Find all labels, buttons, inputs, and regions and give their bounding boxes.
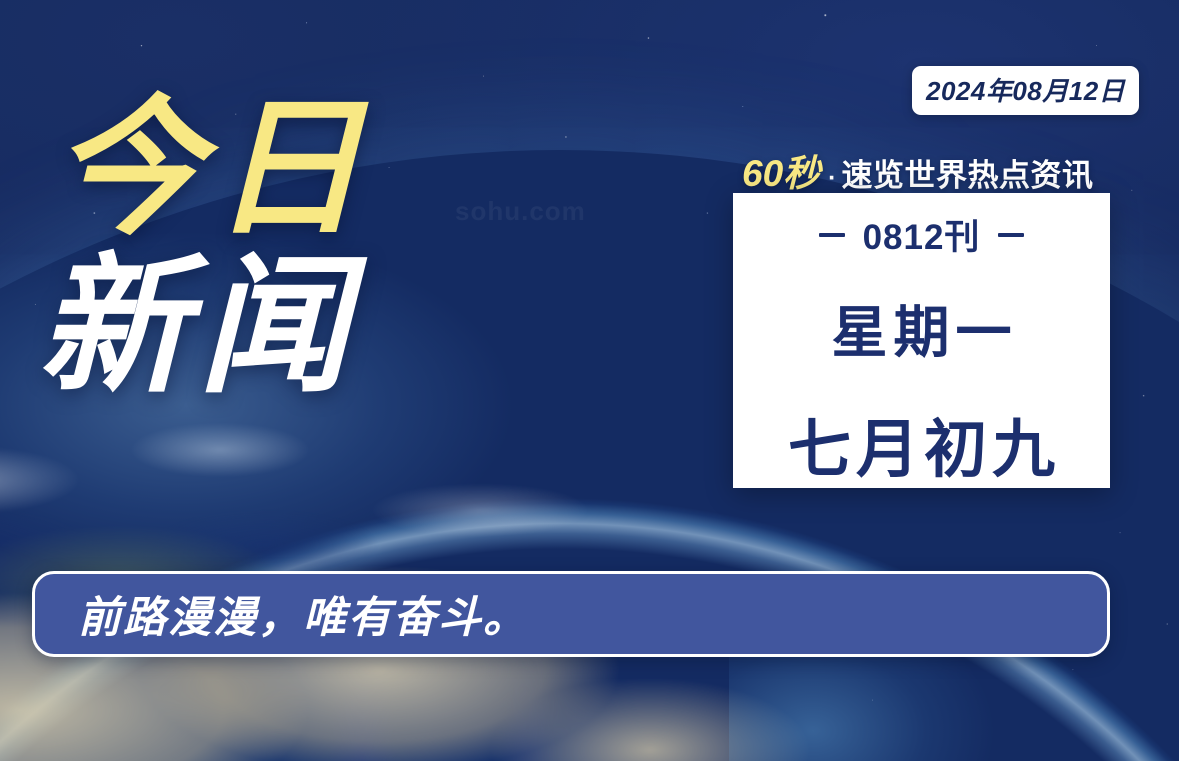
dash-left-icon — [819, 233, 845, 237]
page-title-line-1: 今日 — [52, 96, 372, 240]
tagline-text: 速览世界热点资讯 — [841, 150, 1093, 195]
lunar-date-label: 七月初九 — [783, 399, 1060, 490]
tagline-seconds: 60秒 — [742, 143, 820, 197]
tagline: 60秒 · 速览世界热点资讯 — [742, 143, 1093, 197]
quote-text: 前路漫漫，唯有奋斗。 — [78, 583, 528, 645]
date-badge: 2024年08月12日 — [912, 66, 1139, 115]
weekday-label: 星期一 — [826, 288, 1018, 369]
dash-right-icon — [998, 233, 1024, 237]
issue-number: 0812刊 — [863, 209, 981, 260]
quote-bar: 前路漫漫，唯有奋斗。 — [32, 571, 1110, 657]
page-title-line-2: 新闻 — [38, 254, 372, 398]
page-title: 今日 新闻 — [52, 96, 372, 398]
issue-row: 0812刊 — [819, 209, 1025, 260]
news-poster: sohu.com 今日 新闻 2024年08月12日 60秒 · 速览世界热点资… — [0, 0, 1179, 761]
tagline-separator-icon: · — [820, 164, 841, 193]
issue-info-card: 0812刊 星期一 七月初九 — [733, 193, 1110, 488]
